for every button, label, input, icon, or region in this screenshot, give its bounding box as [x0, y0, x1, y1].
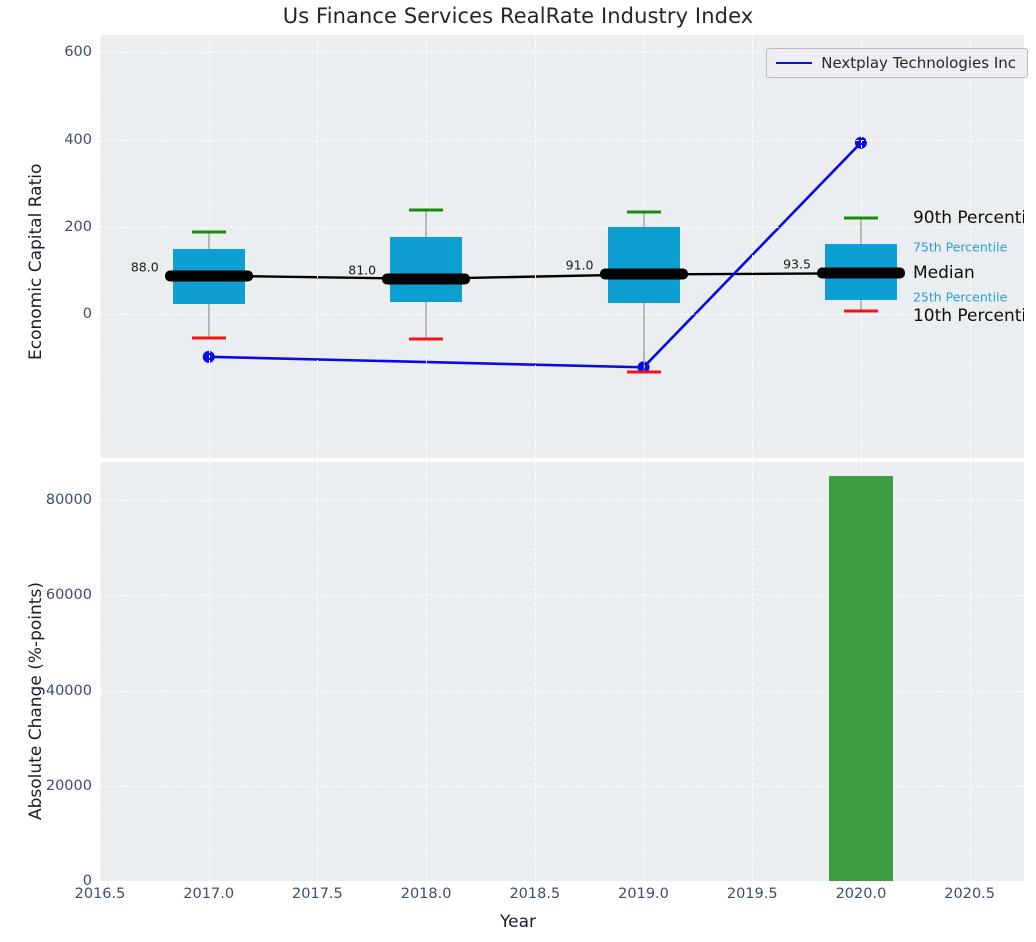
- boxplot-median-bar: [817, 268, 905, 279]
- boxplot-box: [390, 237, 462, 302]
- y-axis-tick-label: 60000: [2, 587, 92, 603]
- x-axis-tick-label: 2017.0: [154, 886, 264, 902]
- boxplot-box: [608, 227, 680, 303]
- gridline-vertical: [970, 462, 971, 881]
- gridline-vertical: [100, 462, 101, 881]
- series-marker: [855, 137, 867, 149]
- annotation-25th-percentile: 25th Percentile: [913, 289, 1007, 304]
- x-axis-tick-label: 2016.5: [45, 886, 155, 902]
- y-axis-tick-label: 20000: [2, 778, 92, 794]
- gridline-vertical: [317, 35, 318, 458]
- bar-2020: [829, 476, 893, 881]
- x-axis-ticks: 2016.52017.02017.52018.02018.52019.02019…: [100, 886, 1024, 910]
- plot-area-top: 88.081.091.093.590th Percentile75th Perc…: [100, 35, 1024, 458]
- boxplot-cap-p10: [627, 371, 661, 374]
- y-axis-tick-label: 400: [2, 132, 92, 148]
- median-value-label: 91.0: [566, 258, 600, 273]
- gridline-horizontal: [100, 227, 1024, 228]
- x-axis-tick-label: 2018.5: [480, 886, 590, 902]
- legend-item-label: Nextplay Technologies Inc: [821, 54, 1016, 72]
- annotation-median: Median: [913, 263, 975, 283]
- y-axis-ticks-top: 6004002000: [0, 35, 92, 458]
- x-axis-tick-label: 2018.0: [371, 886, 481, 902]
- annotation-90th-percentile: 90th Percentile: [913, 208, 1024, 228]
- y-axis-tick-label: 40000: [2, 683, 92, 699]
- gridline-vertical: [752, 462, 753, 881]
- annotation-10th-percentile: 10th Percentile: [913, 306, 1024, 326]
- plot-area-bottom: [100, 462, 1024, 881]
- gridline-vertical: [535, 462, 536, 881]
- legend[interactable]: Nextplay Technologies Inc: [766, 48, 1028, 78]
- x-axis-tick-label: 2020.5: [915, 886, 1025, 902]
- y-axis-tick-label: 0: [2, 306, 92, 322]
- chart-figure: Us Finance Services RealRate Industry In…: [0, 0, 1036, 942]
- y-axis-label-top: Economic Capital Ratio: [26, 164, 46, 360]
- boxplot-median-bar: [600, 269, 688, 280]
- boxplot-cap-p10: [844, 310, 878, 313]
- median-connector-line: [209, 273, 861, 278]
- gridline-vertical: [426, 462, 427, 881]
- legend-line-swatch: [776, 62, 812, 64]
- x-axis-label: Year: [0, 912, 1036, 932]
- boxplot-median-bar: [165, 270, 253, 281]
- boxplot-cap-p90: [192, 231, 226, 234]
- median-value-label: 93.5: [783, 257, 817, 272]
- y-axis-tick-label: 600: [2, 44, 92, 60]
- annotation-75th-percentile: 75th Percentile: [913, 239, 1007, 254]
- x-axis-tick-label: 2017.5: [262, 886, 372, 902]
- x-axis-tick-label: 2019.0: [589, 886, 699, 902]
- series-marker: [203, 351, 215, 363]
- median-value-label: 88.0: [131, 259, 165, 274]
- boxplot-median-bar: [382, 273, 470, 284]
- y-axis-tick-label: 200: [2, 219, 92, 235]
- y-axis-ticks-bottom: 800006000040000200000: [0, 462, 92, 881]
- gridline-vertical: [535, 35, 536, 458]
- gridline-vertical: [317, 462, 318, 881]
- gridline-horizontal: [100, 314, 1024, 315]
- gridline-vertical: [209, 462, 210, 881]
- median-value-label: 81.0: [348, 262, 382, 277]
- gridline-vertical: [752, 35, 753, 458]
- boxplot-cap-p10: [192, 337, 226, 340]
- x-axis-tick-label: 2020.0: [806, 886, 916, 902]
- gridline-horizontal: [100, 140, 1024, 141]
- y-axis-tick-label: 80000: [2, 492, 92, 508]
- boxplot-cap-p90: [844, 217, 878, 220]
- page-title: Us Finance Services RealRate Industry In…: [0, 4, 1036, 28]
- series-line-nextplay: [209, 143, 861, 368]
- gridline-vertical: [100, 35, 101, 458]
- boxplot-cap-p10: [409, 338, 443, 341]
- x-axis-tick-label: 2019.5: [697, 886, 807, 902]
- y-axis-label-bottom: Absolute Change (%-points): [26, 582, 46, 820]
- boxplot-cap-p90: [409, 208, 443, 211]
- boxplot-cap-p90: [627, 211, 661, 214]
- gridline-vertical: [644, 462, 645, 881]
